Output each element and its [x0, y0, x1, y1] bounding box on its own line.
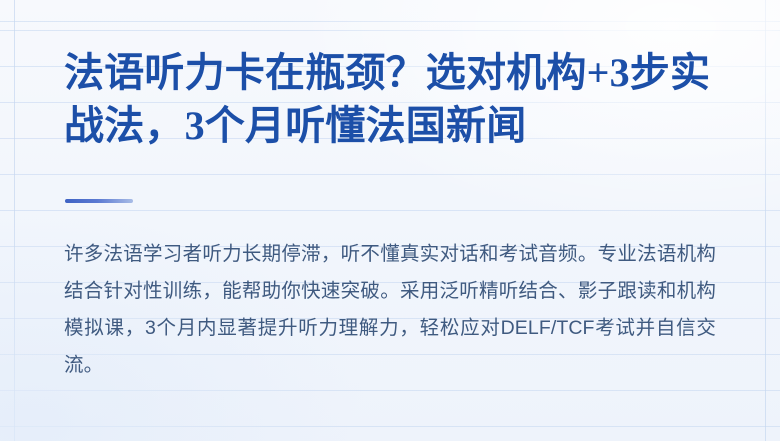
page-title: 法语听力卡在瓶颈？选对机构+3步实战法，3个月听懂法国新闻: [64, 46, 714, 152]
title-divider: [65, 199, 133, 203]
article-card: 法语听力卡在瓶颈？选对机构+3步实战法，3个月听懂法国新闻 许多法语学习者听力长…: [0, 0, 780, 441]
article-summary: 许多法语学习者听力长期停滞，听不懂真实对话和考试音频。专业法语机构结合针对性训练…: [64, 236, 716, 384]
